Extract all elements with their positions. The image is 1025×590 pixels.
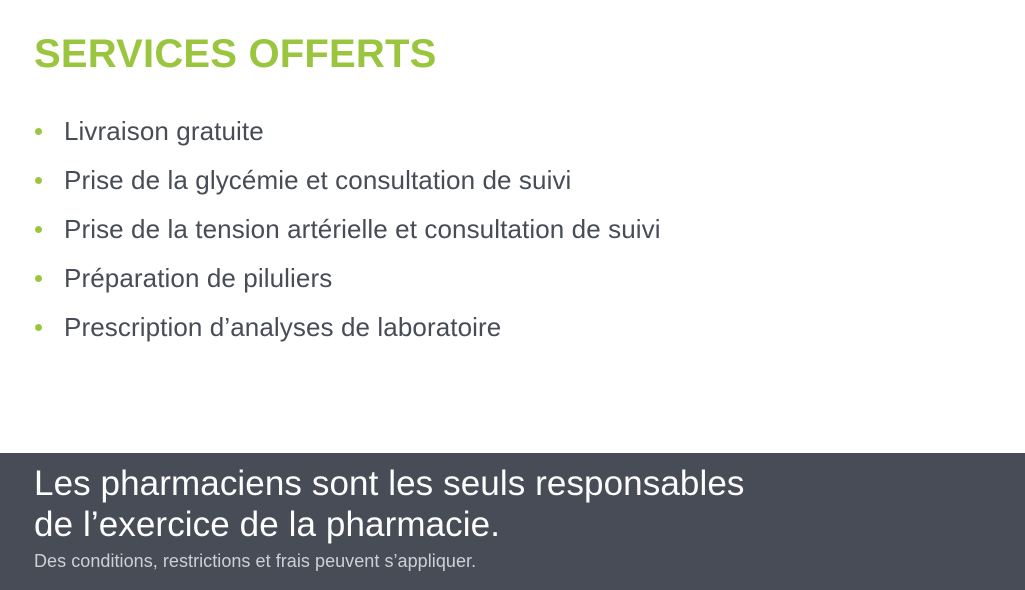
page-title: SERVICES OFFERTS (34, 31, 437, 77)
footer-banner: Les pharmaciens sont les seuls responsab… (0, 453, 1025, 590)
list-item-label: Prise de la tension artérielle et consul… (64, 214, 661, 244)
footer-disclaimer: Des conditions, restrictions et frais pe… (34, 550, 476, 572)
footer-heading-line-1: Les pharmaciens sont les seuls responsab… (34, 463, 994, 504)
list-item: Prescription d’analyses de laboratoire (34, 302, 974, 351)
list-item-label: Prescription d’analyses de laboratoire (64, 312, 501, 342)
bullet-dot-icon (35, 324, 42, 331)
list-item: Préparation de piluliers (34, 253, 974, 302)
bullet-dot-icon (35, 275, 42, 282)
list-item-label: Livraison gratuite (64, 116, 264, 146)
bullet-dot-icon (35, 128, 42, 135)
bullet-dot-icon (35, 226, 42, 233)
list-item-label: Prise de la glycémie et consultation de … (64, 165, 571, 195)
footer-heading: Les pharmaciens sont les seuls responsab… (34, 463, 994, 545)
slide-root: SERVICES OFFERTS Livraison gratuite Pris… (0, 0, 1025, 590)
footer-heading-line-2: de l’exercice de la pharmacie. (34, 504, 994, 545)
list-item: Prise de la tension artérielle et consul… (34, 204, 974, 253)
list-item-label: Préparation de piluliers (64, 263, 332, 293)
services-bullet-list: Livraison gratuite Prise de la glycémie … (34, 106, 974, 351)
list-item: Livraison gratuite (34, 106, 974, 155)
bullet-dot-icon (35, 177, 42, 184)
list-item: Prise de la glycémie et consultation de … (34, 155, 974, 204)
